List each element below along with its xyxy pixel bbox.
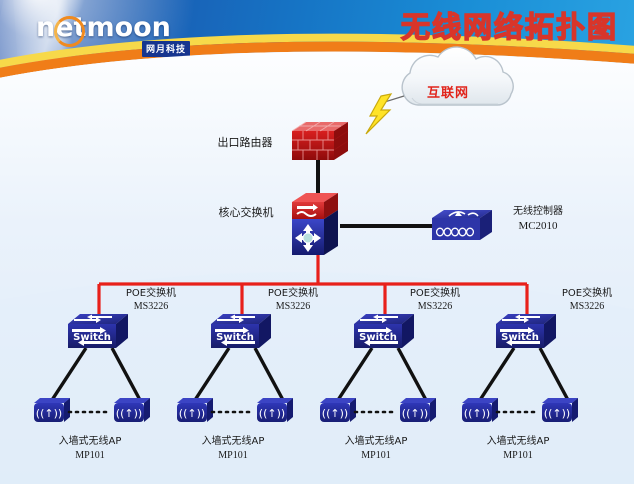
wireless-ap-icon: ((↑))	[34, 398, 70, 422]
layer3-switch-icon	[292, 193, 338, 255]
ap-group-2-label: 入墙式无线AP	[185, 436, 281, 448]
ap-group-1-model: MP101	[42, 450, 138, 462]
wireless-controller-model: MC2010	[492, 220, 584, 232]
poe-switch-1: Switch	[68, 314, 128, 348]
ap-group-3-model: MP101	[328, 450, 424, 462]
svg-text:Switch: Switch	[501, 332, 539, 343]
poe-switch-4-label: POE交换机	[546, 288, 628, 300]
svg-text:((↑)): ((↑))	[259, 407, 285, 420]
svg-text:((↑)): ((↑))	[322, 407, 348, 420]
topology-canvas: Switch Switch Switch	[0, 0, 634, 484]
ap-group-2-model: MP101	[185, 450, 281, 462]
svg-text:((↑)): ((↑))	[544, 407, 570, 420]
ap-group-1-label: 入墙式无线AP	[42, 436, 138, 448]
wireless-ap-icon: ((↑))	[320, 398, 356, 422]
ap-group-4-label: 入墙式无线AP	[470, 436, 566, 448]
topology-slide: netmoon 网月科技 无线网络拓扑图	[0, 0, 634, 484]
svg-text:((↑)): ((↑))	[464, 407, 490, 420]
svg-text:Switch: Switch	[73, 332, 111, 343]
svg-text:Switch: Switch	[359, 332, 397, 343]
wireless-controller-label: 无线控制器	[492, 206, 584, 218]
core-switch-label: 核心交换机	[205, 207, 287, 219]
svg-text:((↑)): ((↑))	[402, 407, 428, 420]
poe-switch-2-model: MS3226	[252, 301, 334, 313]
ap-group-3-label: 入墙式无线AP	[328, 436, 424, 448]
svg-text:((↑)): ((↑))	[116, 407, 142, 420]
poe-switch-3-label: POE交换机	[394, 288, 476, 300]
poe-switch-3: Switch	[354, 314, 414, 348]
poe-switch-1-label: POE交换机	[110, 288, 192, 300]
poe-switch-2-label: POE交换机	[252, 288, 334, 300]
svg-text:Switch: Switch	[216, 332, 254, 343]
poe-switch-4-model: MS3226	[546, 301, 628, 313]
poe-switch-4: Switch	[496, 314, 556, 348]
wireless-ap-icon: ((↑))	[462, 398, 498, 422]
router-icon	[292, 122, 348, 160]
poe-switch-3-model: MS3226	[394, 301, 476, 313]
poe-switch-2: Switch	[211, 314, 271, 348]
poe-switch-1-model: MS3226	[110, 301, 192, 313]
router-label: 出口路由器	[200, 137, 290, 149]
wireless-ap-icon: ((↑))	[542, 398, 578, 422]
svg-text:((↑)): ((↑))	[36, 407, 62, 420]
wireless-ap-icon: ((↑))	[257, 398, 293, 422]
wireless-ap-icon: ((↑))	[177, 398, 213, 422]
wireless-ap-icon: ((↑))	[114, 398, 150, 422]
internet-cloud-label: 互联网	[408, 82, 488, 101]
wireless-ap-icon: ((↑))	[400, 398, 436, 422]
wireless-controller-icon	[432, 210, 492, 240]
ap-group-4-model: MP101	[470, 450, 566, 462]
svg-text:((↑)): ((↑))	[179, 407, 205, 420]
